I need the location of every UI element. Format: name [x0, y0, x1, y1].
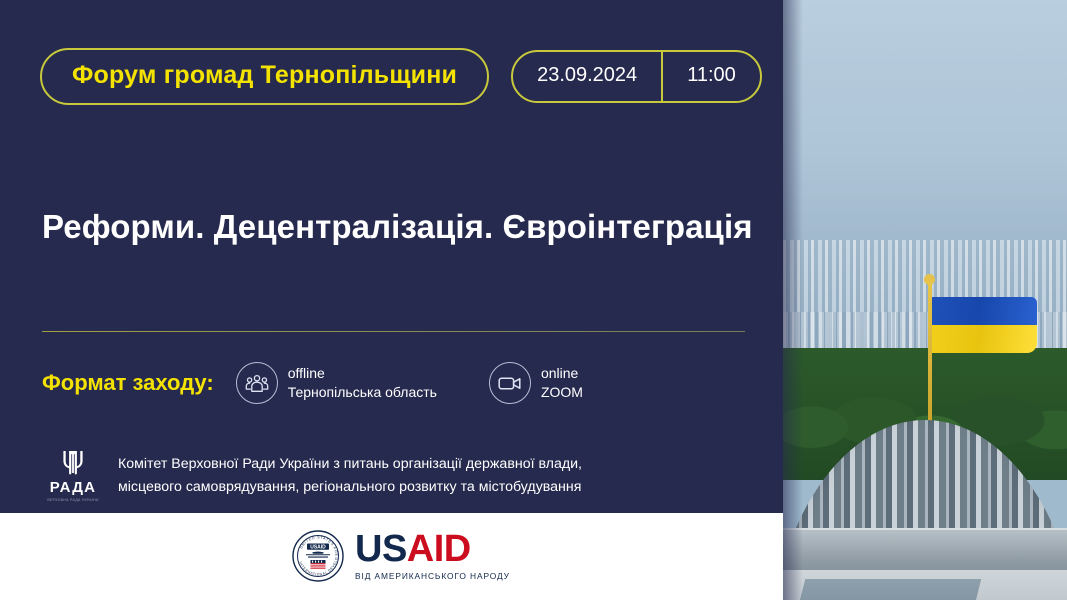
ukraine-trident-icon [58, 448, 88, 478]
usaid-seal-icon: UNITED STATES AGENCY INTERNATIONAL DEVEL… [292, 530, 344, 582]
event-title-badge: Форум громад Тернопільщини [40, 48, 489, 105]
format-option-offline: offline Тернопільська область [236, 362, 437, 404]
usaid-word-us: US [355, 528, 407, 570]
rada-wordmark: РАДА [50, 479, 96, 496]
format-offline-detail: Тернопільська область [288, 383, 437, 402]
header-badges: Форум громад Тернопільщини 23.09.2024 11… [40, 48, 762, 105]
format-offline-mode: offline [288, 364, 437, 383]
event-poster: Форум громад Тернопільщини 23.09.2024 11… [0, 0, 1067, 600]
usaid-word-aid: AID [407, 528, 471, 570]
format-label: Формат заходу: [42, 370, 214, 396]
event-time: 11:00 [663, 52, 760, 101]
organizer-block: РАДА ВЕРХОВНА РАДА УКРАЇНИ Комітет Верхо… [44, 448, 582, 503]
committee-name-line1: Комітет Верховної Ради України з питань … [118, 453, 582, 475]
usaid-tagline: ВІД АМЕРИКАНСЬКОГО НАРОДУ [355, 571, 510, 581]
format-online-mode: online [541, 364, 583, 383]
flag-blue-stripe [932, 297, 1037, 325]
format-option-online-text: online ZOOM [541, 364, 583, 402]
format-online-detail: ZOOM [541, 383, 583, 402]
event-datetime-badge: 23.09.2024 11:00 [511, 50, 762, 103]
usaid-wordmark: USAID [355, 531, 510, 567]
parliament-roof-structure [795, 579, 982, 600]
event-date: 23.09.2024 [513, 52, 663, 101]
page-title: Реформи. Децентралізація. Євроінтеграція [42, 208, 753, 246]
usaid-logo: UNITED STATES AGENCY INTERNATIONAL DEVEL… [292, 530, 510, 582]
usaid-wordmark-block: USAID ВІД АМЕРИКАНСЬКОГО НАРОДУ [355, 531, 510, 580]
committee-name-line2: місцевого самоврядування, регіонального … [118, 476, 582, 498]
rada-subtitle: ВЕРХОВНА РАДА УКРАЇНИ [47, 498, 98, 503]
group-people-icon [236, 362, 278, 404]
video-camera-icon [489, 362, 531, 404]
rada-logo: РАДА ВЕРХОВНА РАДА УКРАЇНИ [44, 448, 102, 503]
committee-name: Комітет Верховної Ради України з питань … [118, 453, 582, 498]
format-option-offline-text: offline Тернопільська область [288, 364, 437, 402]
event-format-section: Формат заходу: offline Тернопільська обл… [42, 362, 635, 404]
format-option-online: online ZOOM [489, 362, 583, 404]
photo-sky [783, 0, 1067, 276]
ukrainian-flag-icon [932, 297, 1037, 353]
section-divider [42, 331, 745, 332]
svg-text:USAID: USAID [310, 544, 326, 550]
rada-dome-photo [783, 0, 1067, 600]
flag-yellow-stripe [932, 325, 1037, 353]
